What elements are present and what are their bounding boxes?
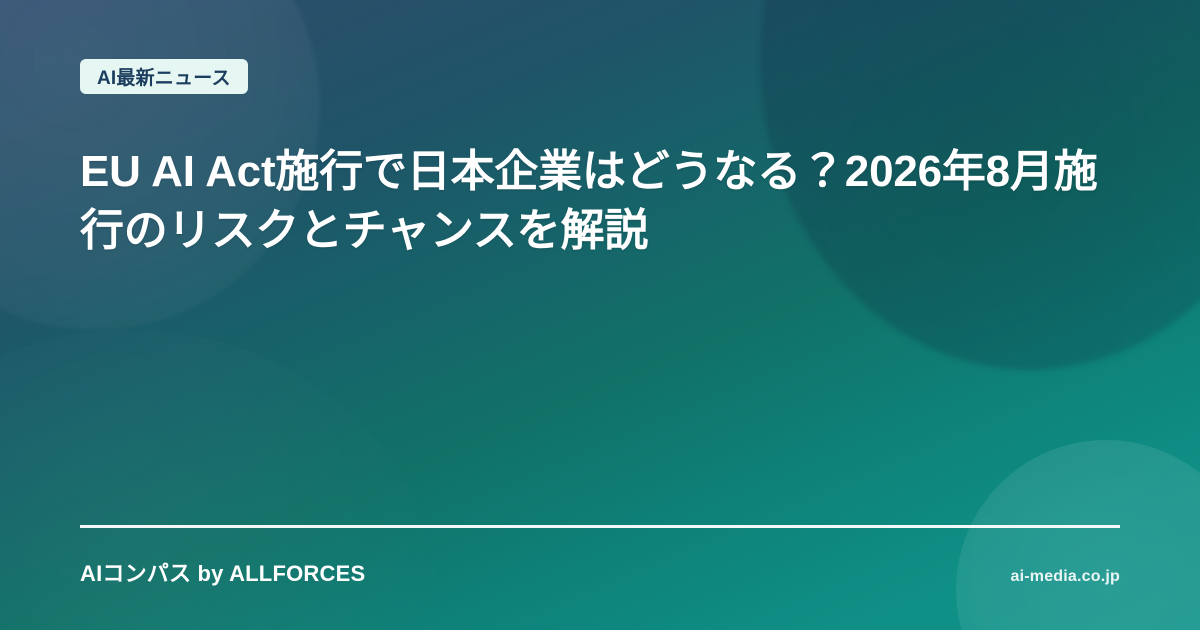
footer-divider xyxy=(80,525,1120,528)
ogp-card: AI最新ニュース EU AI Act施行で日本企業はどうなる？2026年8月施行… xyxy=(0,0,1200,630)
card-content: AI最新ニュース EU AI Act施行で日本企業はどうなる？2026年8月施行… xyxy=(0,0,1200,630)
site-brand-label: AIコンパス by ALLFORCES xyxy=(80,556,365,588)
category-badge: AI最新ニュース xyxy=(80,59,248,94)
card-footer: AIコンパス by ALLFORCES ai-media.co.jp xyxy=(80,525,1120,588)
site-url-label: ai-media.co.jp xyxy=(1011,568,1121,586)
footer-row: AIコンパス by ALLFORCES ai-media.co.jp xyxy=(80,556,1120,588)
page-title: EU AI Act施行で日本企業はどうなる？2026年8月施行のリスクとチャンス… xyxy=(80,143,1120,260)
